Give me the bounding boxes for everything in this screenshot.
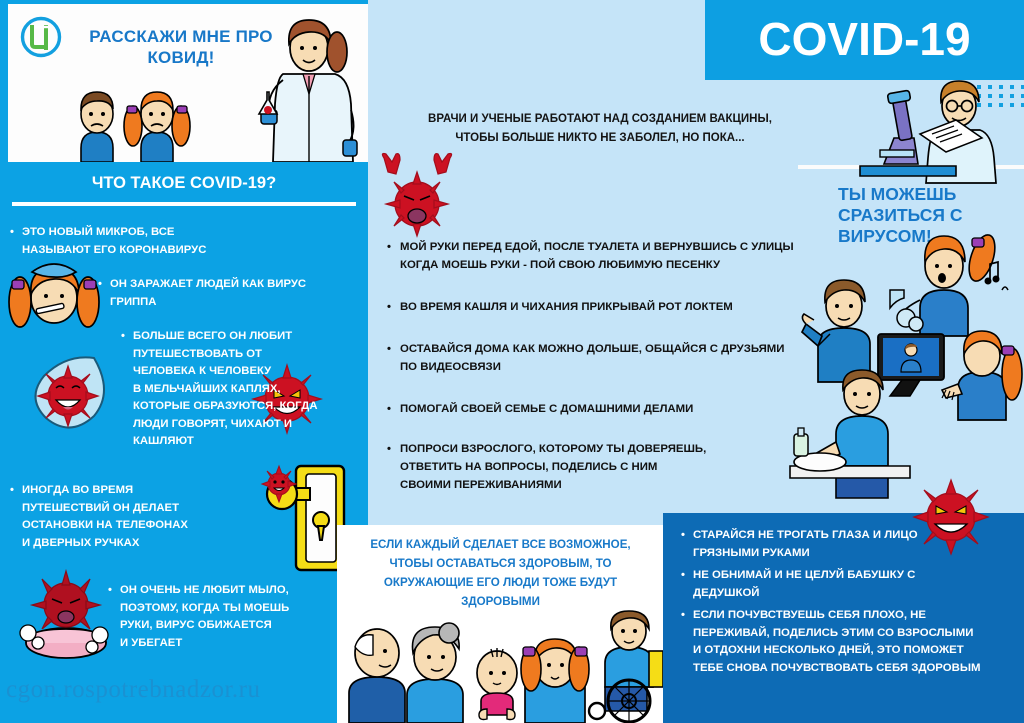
dark-bullet-2-line-2: ДЕДУШКОЙ <box>693 585 1013 603</box>
left-bullet-2: • ОН ЗАРАЖАЕТ ЛЮДЕЙ КАК ВИРУС ГРИППА <box>110 276 345 311</box>
bullet-marker: • <box>387 400 391 418</box>
bullet-marker: • <box>121 328 125 346</box>
main-bullet-1-line-2: КОГДА МОЕШЬ РУКИ - ПОЙ СВОЮ ЛЮБИМУЮ ПЕСЕ… <box>400 256 870 274</box>
poster-root: РАССКАЖИ МНЕ ПРО КОВИД! <box>0 0 1024 723</box>
left-bullet-3-line-4: В МЕЛЬЧАЙШИХ КАПЛЯХ, <box>133 381 348 399</box>
left-bullet-3-line-5: КОТОРЫЕ ОБРАЗУЮТСЯ, КОГДА <box>133 398 348 416</box>
left-bullet-4-line-1: ИНОГДА ВО ВРЕМЯ <box>22 482 202 500</box>
virus-on-soap-figure <box>12 567 116 663</box>
left-bullet-3-line-2: ПУТЕШЕСТВОВАТЬ ОТ <box>133 346 348 364</box>
left-bullet-1-line-1: ЭТО НОВЫЙ МИКРОБ, ВСЕ <box>22 224 232 242</box>
dark-bullet-3-line-4: ТЕБЕ СНОВА ПОЧУВСТВОВАТЬ СЕБЯ ЗДОРОВЫМ <box>693 660 1023 678</box>
left-column: ЧТО ТАКОЕ COVID-19? • ЭТО НОВЫЙ МИКРОБ, … <box>0 162 368 723</box>
left-bullet-4-line-2: ПУТЕШЕСТВИЙ ОН ДЕЛАЕТ <box>22 500 202 518</box>
cgon-logo <box>18 14 64 60</box>
left-bullet-4-line-3: ОСТАНОВКИ НА ТЕЛЕФОНАХ <box>22 517 202 535</box>
sneezing-virus-figure <box>374 152 460 240</box>
girl-washing-hands-figure <box>890 228 1010 336</box>
left-bullet-5-line-3: РУКИ, ВИРУС ОБИЖАЕТСЯ <box>120 617 355 635</box>
left-bullet-5-line-4: И УБЕГАЕТ <box>120 635 355 653</box>
left-heading-divider <box>12 202 356 206</box>
mid-message-text: ЕСЛИ КАЖДЫЙ СДЕЛАЕТ ВСЕ ВОЗМОЖНОЕ, ЧТОБЫ… <box>345 535 656 611</box>
smiling-virus-figure <box>908 474 994 560</box>
bullet-marker: • <box>387 298 391 316</box>
dark-bullet-3-line-1: ЕСЛИ ПОЧУВСТВУЕШЬ СЕБЯ ПЛОХО, НЕ <box>693 607 1023 625</box>
left-bullet-3-line-6: ЛЮДИ ГОВОРЯТ, ЧИХАЮТ И <box>133 416 348 434</box>
dark-bullet-3-line-3: И ОТДОХНИ НЕСКОЛЬКО ДНЕЙ, ЭТО ПОМОЖЕТ <box>693 642 1023 660</box>
sad-children-figure <box>63 82 203 162</box>
virus-in-droplet-figure <box>20 350 120 442</box>
scientist-microscope-figure <box>860 78 1024 188</box>
bullet-marker: • <box>681 607 685 625</box>
bullet-marker: • <box>387 440 391 458</box>
banner-text-line-1: ВРАЧИ И УЧЕНЫЕ РАБОТАЮТ НАД СОЗДАНИЕМ ВА… <box>380 110 820 129</box>
bullet-marker: • <box>10 482 14 500</box>
left-bullet-3: • БОЛЬШЕ ВСЕГО ОН ЛЮБИТ ПУТЕШЕСТВОВАТЬ О… <box>133 328 348 451</box>
left-bullet-3-line-3: ЧЕЛОВЕКА К ЧЕЛОВЕКУ <box>133 363 348 381</box>
left-bullet-4: • ИНОГДА ВО ВРЕМЯ ПУТЕШЕСТВИЙ ОН ДЕЛАЕТ … <box>22 482 202 552</box>
main-bullet-5: • ПОПРОСИ ВЗРОСЛОГО, КОТОРОМУ ТЫ ДОВЕРЯЕ… <box>400 440 840 494</box>
mid-message-line-4: ЗДОРОВЫМИ <box>345 592 656 611</box>
left-bullet-5-line-2: ПОЭТОМУ, КОГДА ТЫ МОЕШЬ <box>120 600 355 618</box>
dark-bullet-2: • НЕ ОБНИМАЙ И НЕ ЦЕЛУЙ БАБУШКУ С ДЕДУШК… <box>693 567 1013 602</box>
left-bullet-2-line-1: ОН ЗАРАЖАЕТ ЛЮДЕЙ КАК ВИРУС <box>110 276 345 294</box>
mid-message-line-2: ЧТОБЫ ОСТАВАТЬСЯ ЗДОРОВЫМ, ТО <box>345 554 656 573</box>
main-bullet-1-line-1: МОЙ РУКИ ПЕРЕД ЕДОЙ, ПОСЛЕ ТУАЛЕТА И ВЕР… <box>400 238 870 256</box>
bullet-marker: • <box>387 238 391 256</box>
main-bullet-1: • МОЙ РУКИ ПЕРЕД ЕДОЙ, ПОСЛЕ ТУАЛЕТА И В… <box>400 238 870 274</box>
header-panel: РАССКАЖИ МНЕ ПРО КОВИД! <box>8 4 368 162</box>
diverse-people-group-figure <box>339 615 664 723</box>
bullet-marker: • <box>387 340 391 358</box>
mid-message-box: ЕСЛИ КАЖДЫЙ СДЕЛАЕТ ВСЕ ВОЗМОЖНОЕ, ЧТОБЫ… <box>337 525 664 723</box>
dark-bullet-3-line-2: ПЕРЕЖИВАЙ, ПОДЕЛИСЬ ЭТИМ СО ВЗРОСЛЫМИ <box>693 625 1023 643</box>
main-bullet-5-line-2: ОТВЕТИТЬ НА ВОПРОСЫ, ПОДЕЛИСЬ С НИМ <box>400 458 840 476</box>
left-bullet-4-line-4: И ДВЕРНЫХ РУЧКАХ <box>22 535 202 553</box>
covid-title: COVID-19 <box>705 6 1024 72</box>
watermark: cgon.rospotrebnadzor.ru <box>6 676 260 704</box>
left-bullet-5-line-1: ОН ОЧЕНЬ НЕ ЛЮБИТ МЫЛО, <box>120 582 355 600</box>
mid-message-line-1: ЕСЛИ КАЖДЫЙ СДЕЛАЕТ ВСЕ ВОЗМОЖНОЕ, <box>345 535 656 554</box>
main-bullet-5-line-1: ПОПРОСИ ВЗРОСЛОГО, КОТОРОМУ ТЫ ДОВЕРЯЕШЬ… <box>400 440 840 458</box>
left-column-heading: ЧТО ТАКОЕ COVID-19? <box>0 174 368 193</box>
dark-bullet-3: • ЕСЛИ ПОЧУВСТВУЕШЬ СЕБЯ ПЛОХО, НЕ ПЕРЕЖ… <box>693 607 1023 677</box>
banner-text: ВРАЧИ И УЧЕНЫЕ РАБОТАЮТ НАД СОЗДАНИЕМ ВА… <box>380 110 820 148</box>
bullet-marker: • <box>681 567 685 585</box>
bullet-marker: • <box>681 527 685 545</box>
left-bullet-3-line-7: КАШЛЯЮТ <box>133 433 348 451</box>
left-bullet-3-line-1: БОЛЬШЕ ВСЕГО ОН ЛЮБИТ <box>133 328 348 346</box>
female-doctor-figure <box>253 14 368 162</box>
left-bullet-2-line-2: ГРИППА <box>110 294 345 312</box>
left-bullet-5: • ОН ОЧЕНЬ НЕ ЛЮБИТ МЫЛО, ПОЭТОМУ, КОГДА… <box>120 582 355 652</box>
dark-bullet-2-line-1: НЕ ОБНИМАЙ И НЕ ЦЕЛУЙ БАБУШКУ С <box>693 567 1013 585</box>
banner-text-line-2: ЧТОБЫ БОЛЬШЕ НИКТО НЕ ЗАБОЛЕЛ, НО ПОКА..… <box>380 129 820 148</box>
main-bullet-5-line-3: СВОИМИ ПЕРЕЖИВАНИЯМИ <box>400 476 840 494</box>
sick-girl-figure <box>6 254 102 332</box>
mid-message-line-3: ОКРУЖАЮЩИЕ ЕГО ЛЮДИ ТОЖЕ БУДУТ <box>345 573 656 592</box>
bullet-marker: • <box>10 224 14 242</box>
